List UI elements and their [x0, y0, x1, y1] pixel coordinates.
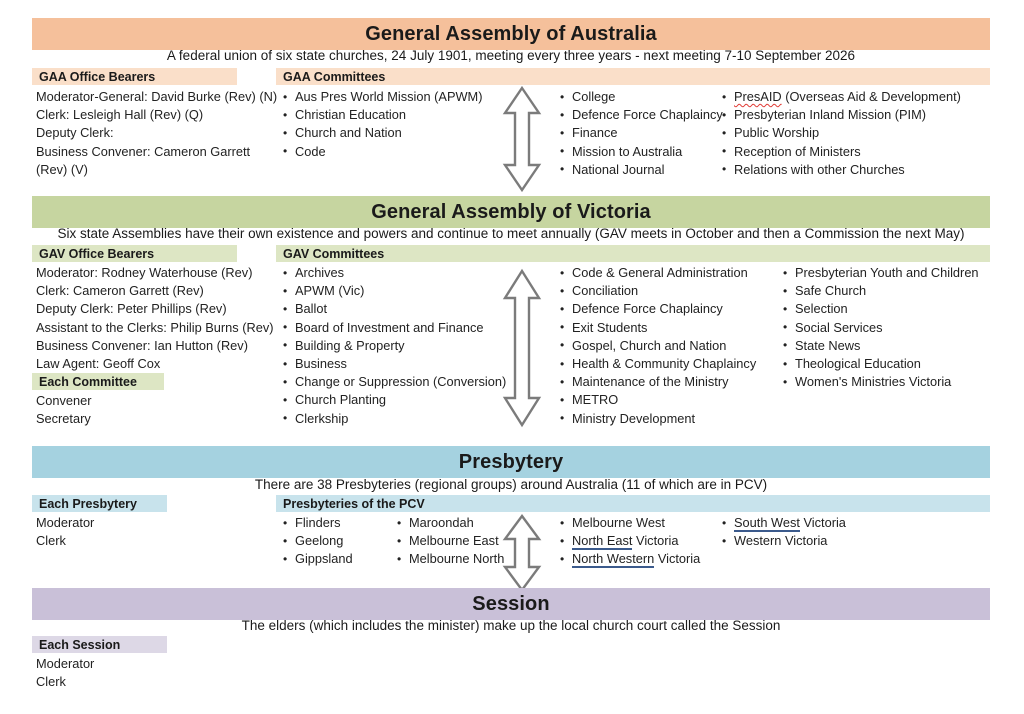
banner-session: Session: [32, 588, 990, 620]
list-item: Presbyterian Inland Mission (PIM): [722, 106, 992, 124]
list-item: Safe Church: [783, 282, 998, 300]
list-item-rest: Victoria: [800, 515, 846, 530]
list-item: Geelong: [283, 532, 393, 550]
list-item: Exit Students: [560, 319, 780, 337]
list-item: Aus Pres World Mission (APWM): [283, 88, 493, 106]
list-item: Clerkship: [283, 410, 498, 428]
list-item: North Western Victoria: [560, 550, 720, 568]
banner-title: Presbytery: [459, 451, 563, 474]
list-item: Change or Suppression (Conversion): [283, 373, 498, 391]
list-item: North East Victoria: [560, 532, 720, 550]
list-item: Assistant to the Clerks: Philip Burns (R…: [36, 319, 276, 337]
list-presbyteries-col4: South West Victoria Western Victoria: [722, 514, 902, 550]
list-item: Deputy Clerk:: [36, 124, 266, 142]
list-gaa-committees-col3: PresAID (Overseas Aid & Development) Pre…: [722, 88, 992, 179]
list-item: Ballot: [283, 300, 498, 318]
list-presbyteries-col1: Flinders Geelong Gippsland: [283, 514, 393, 569]
list-item: College: [560, 88, 720, 106]
list-gaa-committees-col2: College Defence Force Chaplaincy Finance…: [560, 88, 720, 179]
list-item: Moderator: [36, 514, 186, 532]
list-item: South West Victoria: [722, 514, 902, 532]
banner-general-assembly-victoria: General Assembly of Victoria: [32, 196, 990, 228]
list-item: Code & General Administration: [560, 264, 780, 282]
chip-each-presbytery: Each Presbytery: [32, 495, 167, 512]
list-item: Ministry Development: [560, 410, 780, 428]
list-item: APWM (Vic): [283, 282, 498, 300]
banner-title: General Assembly of Australia: [365, 23, 657, 46]
list-item: Social Services: [783, 319, 998, 337]
list-item: National Journal: [560, 161, 720, 179]
list-gav-committees-col1: Archives APWM (Vic) Ballot Board of Inve…: [283, 264, 498, 428]
double-headed-vertical-arrow-icon: [501, 85, 543, 193]
list-item: Moderator: [36, 655, 186, 673]
list-gav-committees-col2: Code & General Administration Conciliati…: [560, 264, 780, 428]
list-item: Western Victoria: [722, 532, 902, 550]
list-item: Women's Ministries Victoria: [783, 373, 998, 391]
list-item: Reception of Ministers: [722, 143, 992, 161]
double-headed-vertical-arrow-icon: [501, 513, 543, 593]
list-gav-office-bearers: Moderator: Rodney Waterhouse (Rev) Clerk…: [36, 264, 276, 373]
list-item: Building & Property: [283, 337, 498, 355]
subtitle-general-assembly-australia: A federal union of six state churches, 2…: [32, 48, 990, 63]
list-item: Business: [283, 355, 498, 373]
list-item: Gospel, Church and Nation: [560, 337, 780, 355]
list-item: Theological Education: [783, 355, 998, 373]
list-each-committee-roles: Convener Secretary: [36, 392, 186, 428]
list-item-rest: Victoria: [654, 551, 700, 566]
chip-gav-office-bearers: GAV Office Bearers: [32, 245, 237, 262]
list-item: Defence Force Chaplaincy: [560, 300, 780, 318]
list-item: Law Agent: Geoff Cox: [36, 355, 276, 373]
double-headed-vertical-arrow-icon: [501, 268, 543, 428]
list-item: State News: [783, 337, 998, 355]
banner-title: General Assembly of Victoria: [371, 201, 651, 224]
chip-each-session: Each Session: [32, 636, 167, 653]
list-item: Archives: [283, 264, 498, 282]
grammarcheck-phrase: North Western: [572, 551, 654, 568]
list-item: Mission to Australia: [560, 143, 720, 161]
list-item: Deputy Clerk: Peter Phillips (Rev): [36, 300, 276, 318]
list-item: Clerk: [36, 673, 186, 691]
spellcheck-word: PresAID: [734, 89, 782, 104]
list-item: Church Planting: [283, 391, 498, 409]
list-item: Presbyterian Youth and Children: [783, 264, 998, 282]
list-item: Defence Force Chaplaincy: [560, 106, 720, 124]
list-item: Moderator-General: David Burke (Rev) (N): [36, 88, 266, 106]
list-item: Moderator: Rodney Waterhouse (Rev): [36, 264, 276, 282]
list-item: Relations with other Churches: [722, 161, 992, 179]
banner-title: Session: [472, 593, 549, 616]
list-item: Clerk: Lesleigh Hall (Rev) (Q): [36, 106, 266, 124]
list-item: (Rev) (V): [36, 161, 266, 179]
list-item: Secretary: [36, 410, 186, 428]
list-item: METRO: [560, 391, 780, 409]
list-each-presbytery-roles: Moderator Clerk: [36, 514, 186, 550]
list-item-rest: (Overseas Aid & Development): [782, 89, 961, 104]
list-item: Christian Education: [283, 106, 493, 124]
list-item: Finance: [560, 124, 720, 142]
chip-each-committee: Each Committee: [32, 373, 164, 390]
list-gav-committees-col3: Presbyterian Youth and Children Safe Chu…: [783, 264, 998, 391]
list-gaa-committees-col1: Aus Pres World Mission (APWM) Christian …: [283, 88, 493, 161]
chip-gav-committees: GAV Committees: [276, 245, 990, 262]
list-item: Maintenance of the Ministry: [560, 373, 780, 391]
list-item: Clerk: [36, 532, 186, 550]
list-item: Board of Investment and Finance: [283, 319, 498, 337]
chip-presbyteries-of-the-pcv: Presbyteries of the PCV: [276, 495, 990, 512]
list-item: PresAID (Overseas Aid & Development): [722, 88, 992, 106]
subtitle-general-assembly-victoria: Six state Assemblies have their own exis…: [32, 226, 990, 241]
list-item: Clerk: Cameron Garrett (Rev): [36, 282, 276, 300]
list-item: Code: [283, 143, 493, 161]
list-item: Selection: [783, 300, 998, 318]
list-gaa-office-bearers: Moderator-General: David Burke (Rev) (N)…: [36, 88, 266, 179]
grammarcheck-phrase: South West: [734, 515, 800, 532]
chip-gaa-committees: GAA Committees: [276, 68, 990, 85]
list-item: Public Worship: [722, 124, 992, 142]
list-item: Church and Nation: [283, 124, 493, 142]
subtitle-presbytery: There are 38 Presbyteries (regional grou…: [32, 477, 990, 492]
org-chart-page: General Assembly of Australia A federal …: [0, 0, 1024, 714]
list-item: Melbourne West: [560, 514, 720, 532]
subtitle-session: The elders (which includes the minister)…: [32, 618, 990, 633]
list-item: Gippsland: [283, 550, 393, 568]
list-each-session-roles: Moderator Clerk: [36, 655, 186, 691]
list-item: Business Convener: Ian Hutton (Rev): [36, 337, 276, 355]
list-item: Convener: [36, 392, 186, 410]
list-item: Business Convener: Cameron Garrett: [36, 143, 266, 161]
list-item: Conciliation: [560, 282, 780, 300]
list-item: Health & Community Chaplaincy: [560, 355, 780, 373]
chip-gaa-office-bearers: GAA Office Bearers: [32, 68, 237, 85]
banner-presbytery: Presbytery: [32, 446, 990, 478]
list-presbyteries-col3: Melbourne West North East Victoria North…: [560, 514, 720, 569]
list-item: Flinders: [283, 514, 393, 532]
list-item-rest: Victoria: [632, 533, 678, 548]
banner-general-assembly-australia: General Assembly of Australia: [32, 18, 990, 50]
grammarcheck-phrase: North East: [572, 533, 632, 550]
